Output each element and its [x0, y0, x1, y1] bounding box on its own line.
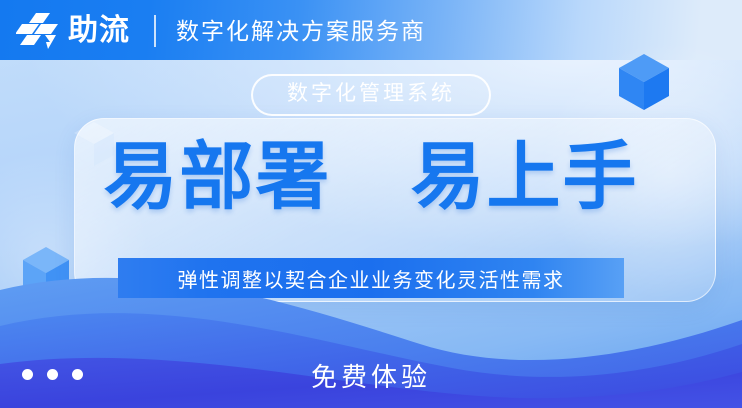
carousel-dot-3[interactable]	[72, 369, 83, 380]
headline-right: 易上手	[411, 135, 639, 218]
carousel-dots[interactable]	[22, 369, 83, 380]
lightning-bolt-blocks-icon	[16, 11, 62, 51]
page-title: 易部署 易上手	[0, 140, 742, 214]
description-bar: 弹性调整以契合企业业务变化灵活性需求	[118, 258, 624, 298]
carousel-dot-2[interactable]	[47, 369, 58, 380]
subtitle-pill: 数字化管理系统	[251, 74, 491, 116]
brand-tagline: 数字化解决方案服务商	[176, 20, 426, 43]
cta-free-trial[interactable]: 免费体验	[0, 364, 742, 390]
brand-divider	[154, 15, 156, 47]
brand-header: 助流 数字化解决方案服务商	[16, 10, 426, 52]
brand-name: 助流	[68, 16, 130, 46]
headline-left: 易部署	[103, 135, 331, 218]
description-text: 弹性调整以契合企业业务变化灵活性需求	[178, 264, 565, 293]
cube-3d-icon-top-right	[616, 52, 672, 114]
carousel-dot-1[interactable]	[22, 369, 33, 380]
promo-banner: 助流 数字化解决方案服务商 数字化管理系统 易部署 易上手 弹性调整以契合企业业…	[0, 0, 742, 408]
